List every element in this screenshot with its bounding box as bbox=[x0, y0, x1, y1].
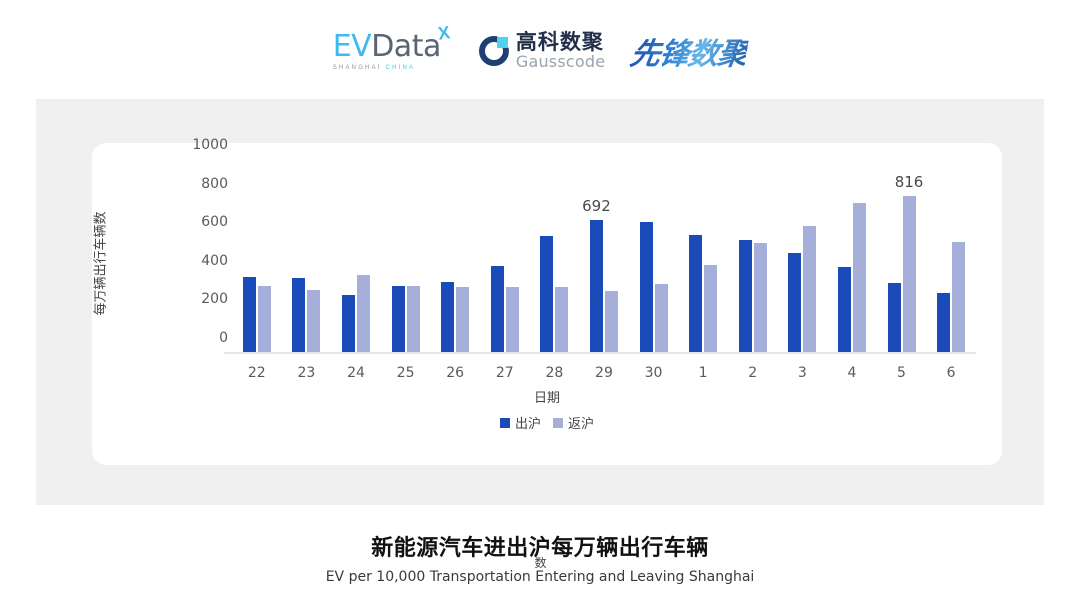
bar-group bbox=[381, 161, 431, 352]
x-axis-line bbox=[224, 352, 976, 354]
bar-return[interactable] bbox=[655, 284, 668, 352]
bar-chart: 每万辆出行车辆数 02004006008001000 692816 222324… bbox=[92, 143, 1002, 465]
x-axis-tick-label: 30 bbox=[629, 365, 679, 385]
bar-out[interactable] bbox=[491, 266, 504, 352]
bar-out[interactable] bbox=[739, 240, 752, 352]
evdata-data-text: Data bbox=[371, 32, 441, 62]
x-axis-tick-label: 23 bbox=[282, 365, 332, 385]
logo-evdata: EV Data X SHANGHAI CHINA bbox=[333, 32, 453, 71]
gausscode-g-icon bbox=[479, 36, 509, 66]
y-axis-tick-label: 0 bbox=[176, 330, 228, 346]
y-axis-tick-label: 200 bbox=[176, 291, 228, 307]
x-axis-tick-label: 5 bbox=[877, 365, 927, 385]
bar-return[interactable] bbox=[803, 226, 816, 352]
chart-card: 每万辆出行车辆数 02004006008001000 692816 222324… bbox=[92, 143, 1002, 465]
y-axis-tick-label: 600 bbox=[176, 214, 228, 230]
x-axis-tick-label: 28 bbox=[530, 365, 580, 385]
logo-xianfeng: 先锋数聚 bbox=[631, 29, 747, 73]
x-axis-tick-label: 27 bbox=[480, 365, 530, 385]
bar-out[interactable]: 692 bbox=[590, 220, 603, 352]
bar-groups: 692816 bbox=[232, 161, 976, 352]
bar-out[interactable] bbox=[243, 277, 256, 352]
x-axis-tick-label: 4 bbox=[827, 365, 877, 385]
y-axis-title-text: 每万辆出行车辆数 bbox=[90, 211, 109, 315]
y-axis-tick-label: 1000 bbox=[176, 137, 228, 153]
x-axis-tick-label: 25 bbox=[381, 365, 431, 385]
x-axis-title: 日期 bbox=[92, 387, 1002, 406]
x-axis-tick-label: 1 bbox=[678, 365, 728, 385]
plot-area: 02004006008001000 692816 bbox=[232, 161, 976, 354]
bar-out[interactable] bbox=[838, 267, 851, 352]
evdata-ev-text: EV bbox=[333, 32, 371, 62]
logo-strip: EV Data X SHANGHAI CHINA 高科数聚 Gausscode … bbox=[0, 22, 1080, 80]
y-axis-tick-label: 800 bbox=[176, 176, 228, 192]
legend-swatch bbox=[553, 418, 563, 428]
bar-out[interactable] bbox=[540, 236, 553, 352]
caption-subtitle: EV per 10,000 Transportation Entering an… bbox=[0, 569, 1080, 585]
logo-gausscode: 高科数聚 Gausscode bbox=[479, 32, 605, 70]
bar-group: 816 bbox=[877, 161, 927, 352]
bar-group bbox=[480, 161, 530, 352]
x-axis-tick-label: 6 bbox=[926, 365, 976, 385]
bar-return[interactable] bbox=[555, 287, 568, 352]
gausscode-wordmark: 高科数聚 Gausscode bbox=[516, 32, 605, 70]
bar-return[interactable] bbox=[605, 291, 618, 352]
evdata-wordmark: EV Data X bbox=[333, 32, 453, 62]
bar-return[interactable] bbox=[407, 286, 420, 352]
bar-return[interactable] bbox=[357, 275, 370, 352]
bar-out[interactable] bbox=[292, 278, 305, 352]
bar-return[interactable] bbox=[952, 242, 965, 352]
bar-return[interactable] bbox=[853, 203, 866, 352]
bar-return[interactable]: 816 bbox=[903, 196, 916, 352]
bar-out[interactable] bbox=[441, 282, 454, 352]
bar-group bbox=[530, 161, 580, 352]
bar-group: 692 bbox=[579, 161, 629, 352]
gausscode-en-text: Gausscode bbox=[516, 54, 605, 70]
legend-item[interactable]: 出沪 bbox=[500, 413, 541, 432]
bar-out[interactable] bbox=[689, 235, 702, 352]
gausscode-cn-text: 高科数聚 bbox=[516, 32, 605, 53]
slide-root: EV Data X SHANGHAI CHINA 高科数聚 Gausscode … bbox=[0, 0, 1080, 608]
caption-block: 新能源汽车进出沪每万辆出行车辆 数 EV per 10,000 Transpor… bbox=[0, 530, 1080, 585]
legend-label: 返沪 bbox=[568, 413, 594, 432]
bar-group bbox=[926, 161, 976, 352]
xianfeng-cn-text: 先锋数聚 bbox=[628, 29, 751, 73]
x-axis-tick-labels: 222324252627282930123456 bbox=[232, 365, 976, 385]
gausscode-square-shape bbox=[497, 37, 508, 48]
bar-group bbox=[430, 161, 480, 352]
bar-out[interactable] bbox=[392, 286, 405, 352]
evdata-subtitle-shanghai: SHANGHAI bbox=[333, 65, 382, 71]
bar-return[interactable] bbox=[704, 265, 717, 352]
bar-out[interactable] bbox=[342, 295, 355, 352]
caption-artifact-glyph: 数 bbox=[534, 554, 545, 571]
bar-out[interactable] bbox=[888, 283, 901, 352]
bar-out[interactable] bbox=[788, 253, 801, 352]
bar-group bbox=[778, 161, 828, 352]
y-axis-tick-label: 400 bbox=[176, 253, 228, 269]
bar-value-label: 692 bbox=[582, 197, 611, 215]
x-axis-tick-label: 3 bbox=[778, 365, 828, 385]
bar-return[interactable] bbox=[754, 243, 767, 352]
y-axis-ticks: 02004006008001000 bbox=[176, 161, 228, 354]
bar-group bbox=[331, 161, 381, 352]
x-axis-tick-label: 29 bbox=[579, 365, 629, 385]
legend-swatch bbox=[500, 418, 510, 428]
x-axis-tick-label: 22 bbox=[232, 365, 282, 385]
evdata-subtitle-china: CHINA bbox=[386, 65, 416, 71]
bar-group bbox=[629, 161, 679, 352]
evdata-x-icon: X bbox=[436, 22, 451, 44]
bar-group bbox=[678, 161, 728, 352]
bar-return[interactable] bbox=[456, 287, 469, 352]
bar-out[interactable] bbox=[937, 293, 950, 352]
bar-group bbox=[827, 161, 877, 352]
chart-panel: 每万辆出行车辆数 02004006008001000 692816 222324… bbox=[36, 99, 1044, 505]
bar-out[interactable] bbox=[640, 222, 653, 352]
y-axis-title: 每万辆出行车辆数 bbox=[88, 183, 110, 343]
evdata-subtitle: SHANGHAI CHINA bbox=[333, 65, 416, 71]
x-axis-tick-label: 24 bbox=[331, 365, 381, 385]
legend-item[interactable]: 返沪 bbox=[553, 413, 594, 432]
bar-value-label: 816 bbox=[895, 173, 924, 191]
bar-group bbox=[232, 161, 282, 352]
bar-group bbox=[282, 161, 332, 352]
bar-group bbox=[728, 161, 778, 352]
x-axis-tick-label: 2 bbox=[728, 365, 778, 385]
chart-legend: 出沪返沪 bbox=[92, 413, 1002, 432]
bar-return[interactable] bbox=[307, 290, 320, 352]
legend-label: 出沪 bbox=[515, 413, 541, 432]
x-axis-tick-label: 26 bbox=[430, 365, 480, 385]
bar-return[interactable] bbox=[506, 287, 519, 352]
bar-return[interactable] bbox=[258, 286, 271, 352]
